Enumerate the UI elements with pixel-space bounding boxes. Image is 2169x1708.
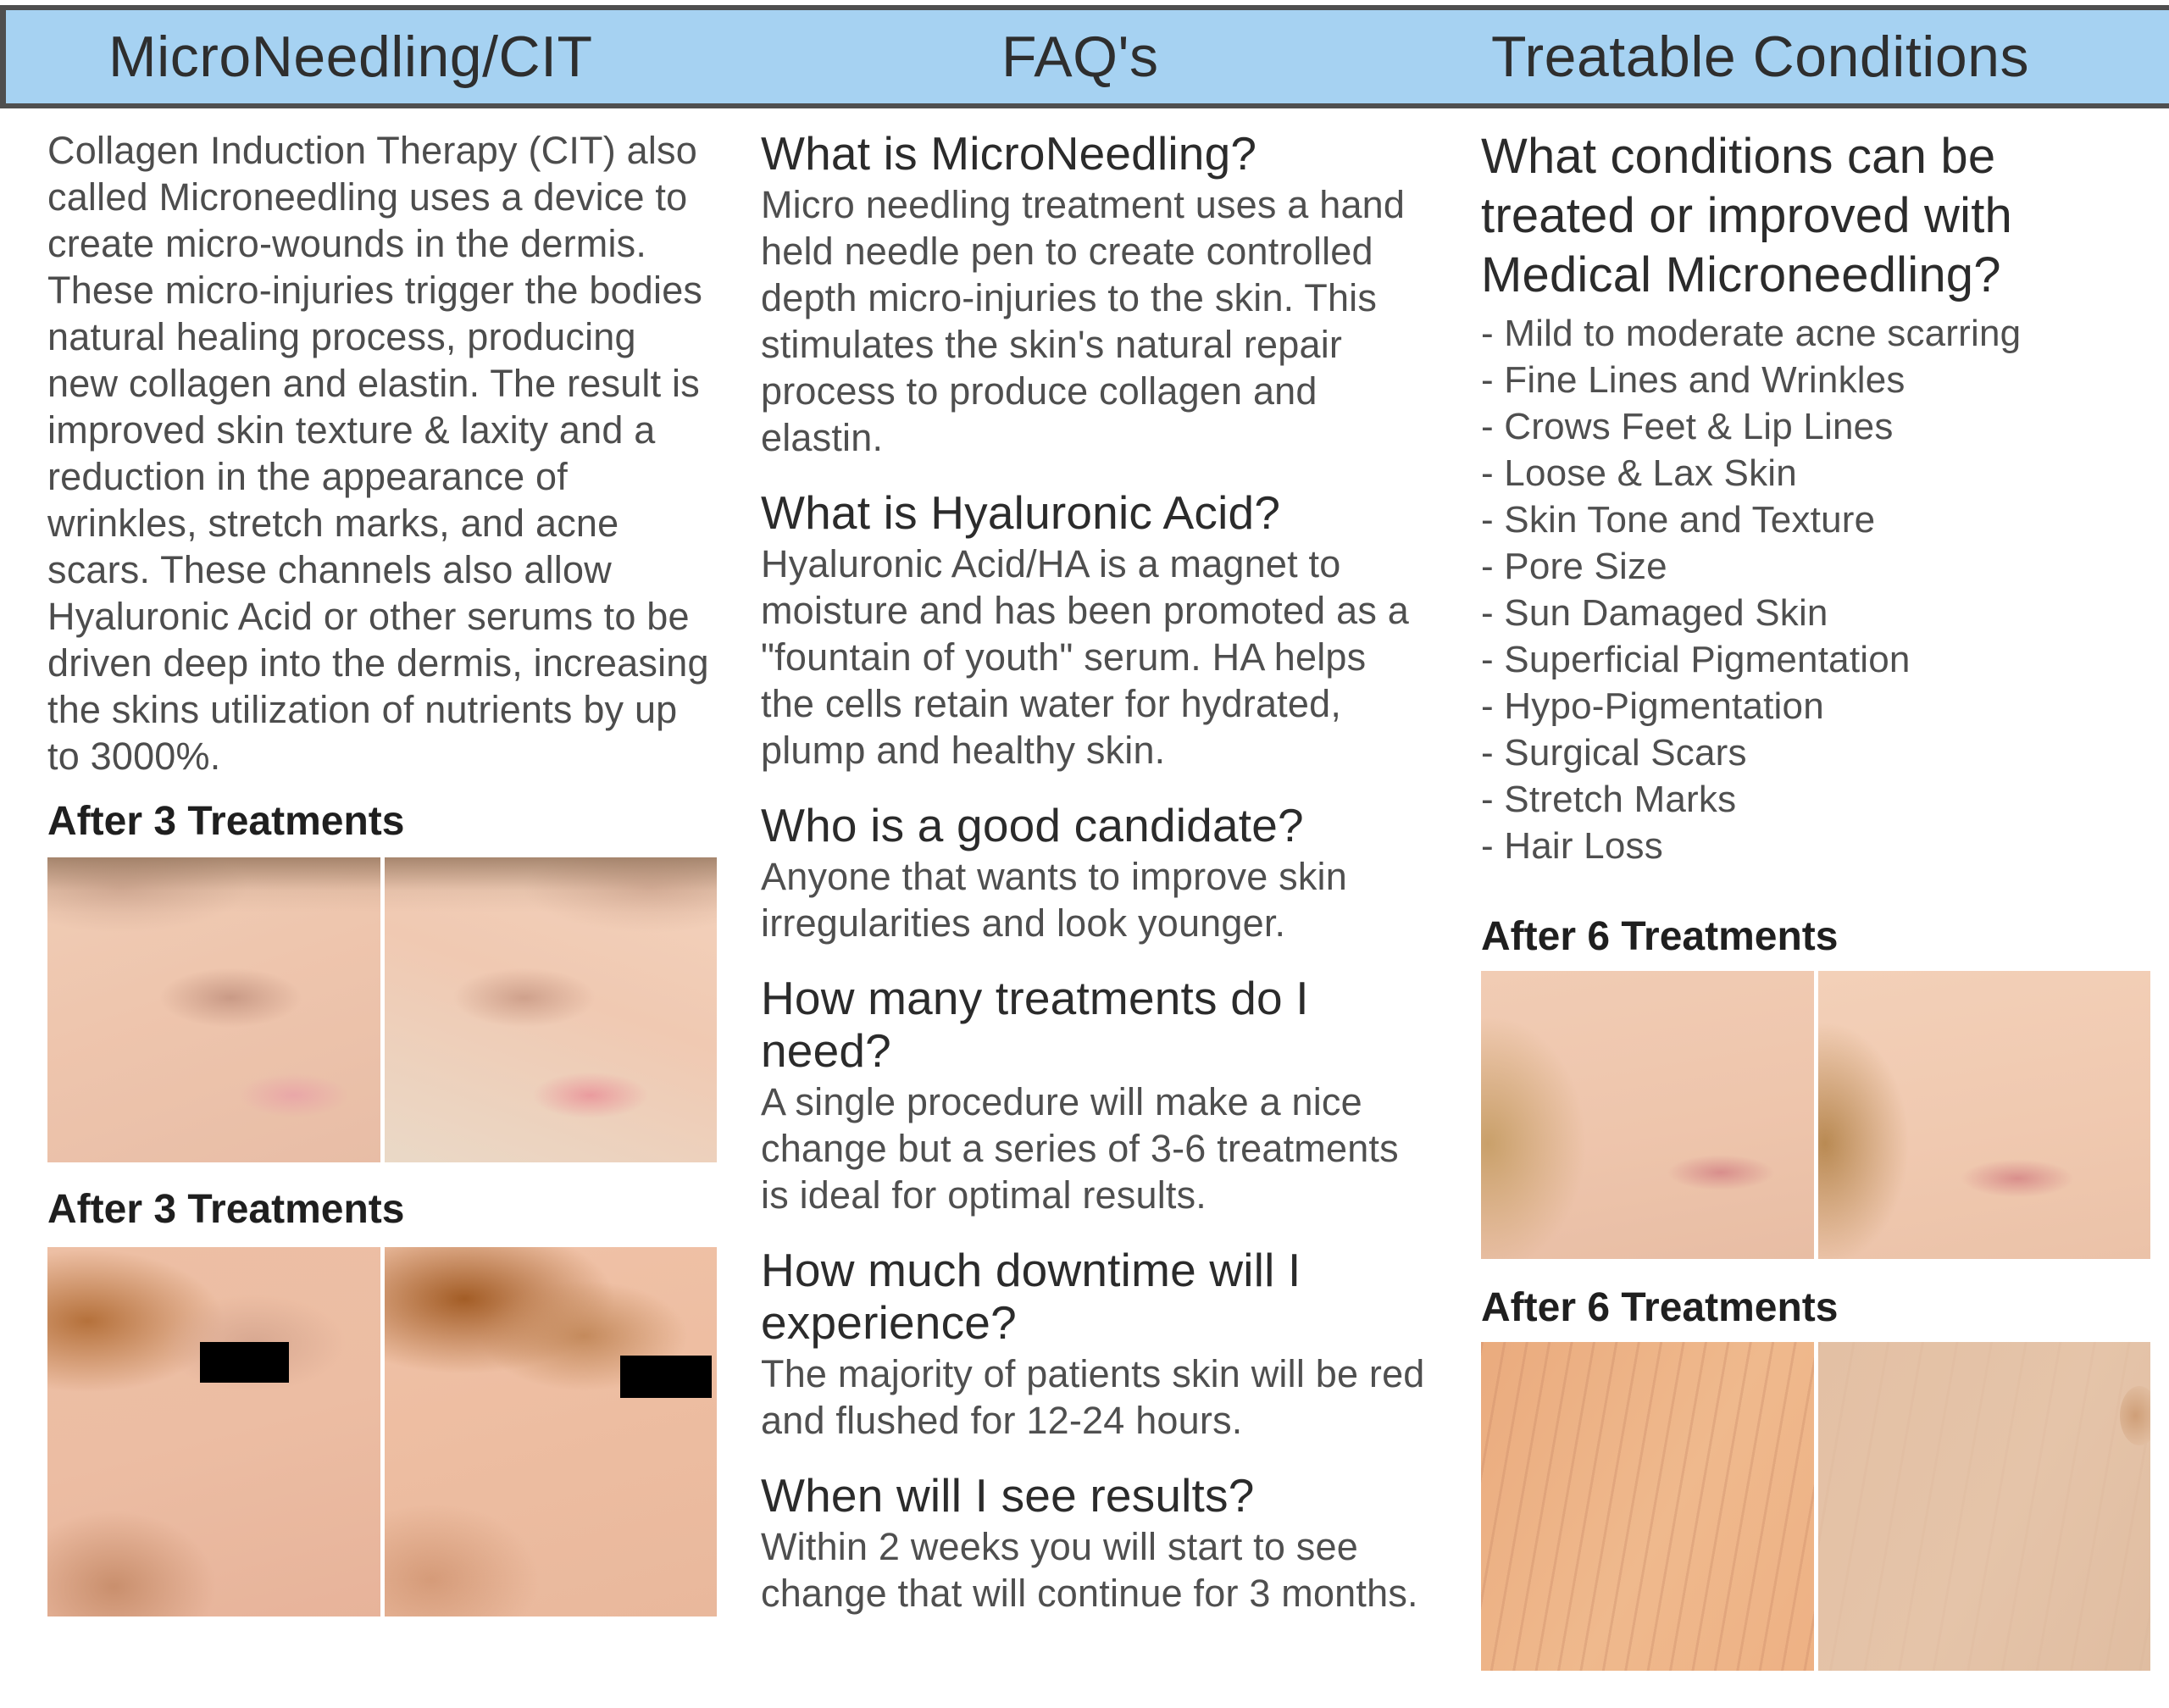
list-item: - Pore Size: [1481, 543, 2150, 590]
photo-pair-cheek: [1481, 971, 2150, 1259]
before-stretch-marks-photo: [1481, 1342, 1814, 1671]
privacy-bar-icon: [200, 1342, 289, 1383]
left-column: Collagen Induction Therapy (CIT) also ca…: [47, 127, 717, 1616]
list-item: - Skin Tone and Texture: [1481, 496, 2150, 543]
before-eye-photo: [47, 1247, 380, 1616]
before-face-photo: [47, 857, 380, 1162]
list-item: - Fine Lines and Wrinkles: [1481, 357, 2150, 403]
after-eye-photo: [385, 1247, 718, 1616]
faq-answer-2: Hyaluronic Acid/HA is a magnet to moistu…: [761, 541, 1430, 774]
header-title-conditions: Treatable Conditions: [1491, 24, 2029, 90]
list-item: - Crows Feet & Lip Lines: [1481, 403, 2150, 450]
caption-after-6-treatments-1: After 6 Treatments: [1481, 913, 2150, 961]
list-item: - Sun Damaged Skin: [1481, 590, 2150, 636]
conditions-list: - Mild to moderate acne scarring - Fine …: [1481, 310, 2150, 869]
photo-pair-eyes: [47, 1247, 717, 1616]
brochure-page: MicroNeedling/CIT FAQ's Treatable Condit…: [0, 0, 2169, 1708]
faq-question-1: What is MicroNeedling?: [761, 127, 1430, 180]
after-stretch-marks-photo: [1818, 1342, 2151, 1671]
faq-answer-5: The majority of patients skin will be re…: [761, 1350, 1430, 1444]
header-title-microneedling: MicroNeedling/CIT: [108, 24, 593, 90]
faq-question-5: How much downtime will I experience?: [761, 1244, 1430, 1349]
photo-pair-faces: [47, 857, 717, 1162]
conditions-column: What conditions can be treated or improv…: [1481, 127, 2150, 1671]
conditions-title: What conditions can be treated or improv…: [1481, 127, 2150, 305]
caption-after-3-treatments-1: After 3 Treatments: [47, 798, 717, 846]
faq-question-6: When will I see results?: [761, 1469, 1430, 1522]
faq-question-4: How many treatments do I need?: [761, 972, 1430, 1077]
list-item: - Mild to moderate acne scarring: [1481, 310, 2150, 357]
faq-question-3: Who is a good candidate?: [761, 799, 1430, 851]
caption-after-6-treatments-2: After 6 Treatments: [1481, 1284, 2150, 1332]
before-cheek-photo: [1481, 971, 1814, 1259]
after-cheek-photo: [1818, 971, 2151, 1259]
faq-question-2: What is Hyaluronic Acid?: [761, 486, 1430, 539]
photo-pair-stretch-marks: [1481, 1342, 2150, 1671]
list-item: - Loose & Lax Skin: [1481, 450, 2150, 496]
list-item: - Hypo-Pigmentation: [1481, 683, 2150, 729]
intro-paragraph: Collagen Induction Therapy (CIT) also ca…: [47, 127, 717, 779]
list-item: - Hair Loss: [1481, 823, 2150, 869]
caption-after-3-treatments-2: After 3 Treatments: [47, 1186, 717, 1234]
privacy-bar-icon: [620, 1356, 712, 1398]
header-title-faqs: FAQ's: [1001, 24, 1159, 90]
faq-column: What is MicroNeedling? Micro needling tr…: [761, 127, 1430, 1616]
faq-answer-3: Anyone that wants to improve skin irregu…: [761, 853, 1430, 946]
after-face-photo: [385, 857, 718, 1162]
header-band: MicroNeedling/CIT FAQ's Treatable Condit…: [0, 5, 2169, 108]
faq-answer-1: Micro needling treatment uses a hand hel…: [761, 181, 1430, 461]
list-item: - Surgical Scars: [1481, 729, 2150, 776]
faq-answer-4: A single procedure will make a nice chan…: [761, 1079, 1430, 1218]
list-item: - Superficial Pigmentation: [1481, 636, 2150, 683]
faq-answer-6: Within 2 weeks you will start to see cha…: [761, 1523, 1430, 1616]
list-item: - Stretch Marks: [1481, 776, 2150, 823]
